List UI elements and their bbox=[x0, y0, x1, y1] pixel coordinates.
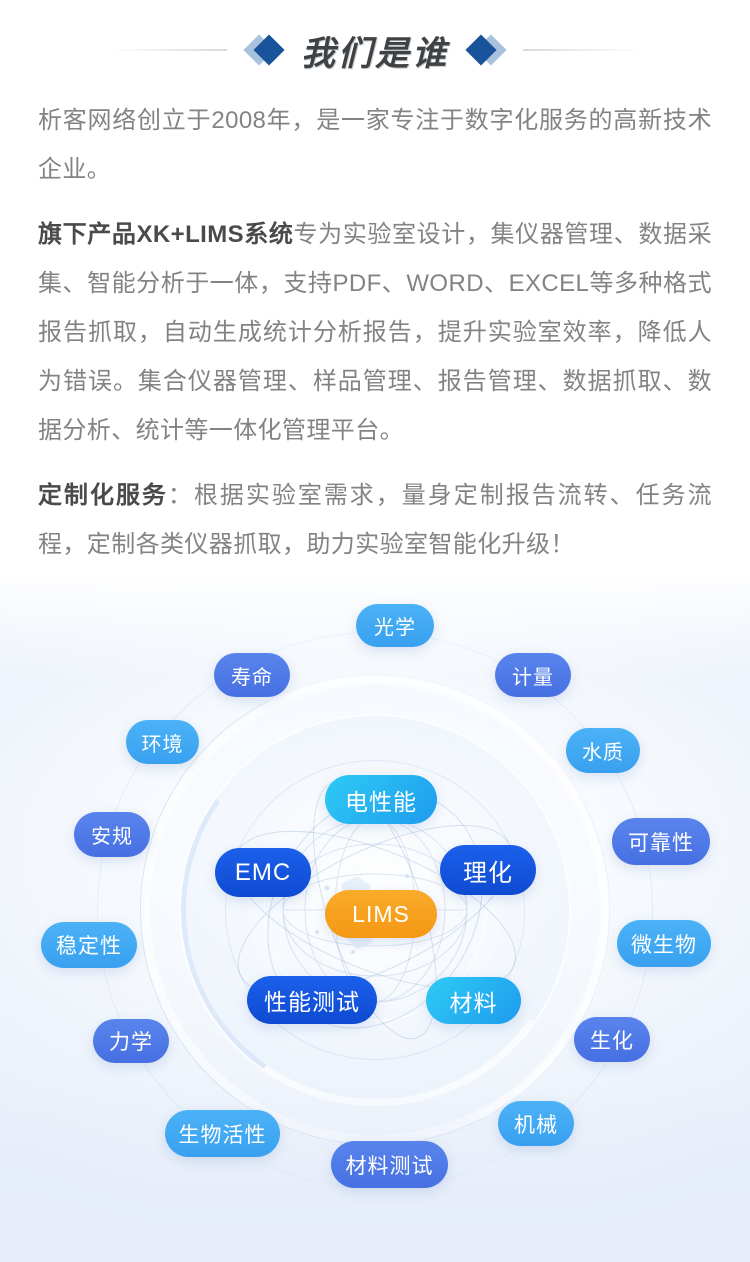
tag-pill[interactable]: 电性能 bbox=[325, 775, 437, 824]
paragraph-intro: 析客网络创立于2008年，是一家专注于数字化服务的高新技术企业。 bbox=[38, 96, 712, 194]
page-title: 我们是谁 bbox=[301, 26, 449, 75]
tag-cloud-section: 光学寿命计量环境水质电性能安规可靠性EMC理化LIMS稳定性微生物性能测试材料生… bbox=[0, 572, 750, 1262]
paragraph-product-lead: 旗下产品XK+LIMS系统 bbox=[38, 221, 294, 248]
tag-pill[interactable]: 机械 bbox=[498, 1101, 574, 1146]
section-header: 我们是谁 bbox=[0, 0, 750, 92]
tag-pill[interactable]: 微生物 bbox=[617, 920, 711, 967]
tag-pill[interactable]: 理化 bbox=[440, 845, 536, 895]
tag-pill[interactable]: 力学 bbox=[93, 1019, 169, 1063]
tag-pill[interactable]: 稳定性 bbox=[41, 922, 137, 968]
about-copy: 析客网络创立于2008年，是一家专注于数字化服务的高新技术企业。 旗下产品XK+… bbox=[0, 92, 750, 569]
tag-pill[interactable]: 可靠性 bbox=[612, 818, 710, 865]
tag-pill[interactable]: 材料测试 bbox=[331, 1141, 448, 1188]
tag-pill[interactable]: LIMS bbox=[325, 890, 437, 938]
tag-pill[interactable]: EMC bbox=[215, 848, 311, 897]
paragraph-custom: 定制化服务：根据实验室需求，量身定制报告流转、任务流程，定制各类仪器抓取，助力实… bbox=[38, 471, 712, 569]
tag-pill[interactable]: 生物活性 bbox=[165, 1110, 280, 1157]
tag-pill[interactable]: 生化 bbox=[574, 1017, 650, 1062]
tag-pill[interactable]: 性能测试 bbox=[247, 976, 377, 1024]
paragraph-intro-text: 析客网络创立于2008年，是一家专注于数字化服务的高新技术企业。 bbox=[38, 107, 712, 183]
header-rule-right bbox=[523, 49, 643, 51]
tag-pill[interactable]: 光学 bbox=[356, 604, 434, 647]
header-rule-left bbox=[107, 49, 227, 51]
paragraph-product-text: 专为实验室设计，集仪器管理、数据采集、智能分析于一体，支持PDF、WORD、EX… bbox=[38, 221, 712, 444]
tag-pill[interactable]: 环境 bbox=[126, 720, 199, 764]
paragraph-product: 旗下产品XK+LIMS系统专为实验室设计，集仪器管理、数据采集、智能分析于一体，… bbox=[38, 210, 712, 455]
tag-pill[interactable]: 水质 bbox=[566, 728, 640, 773]
tag-pill[interactable]: 安规 bbox=[74, 812, 150, 857]
diamond-icon-right bbox=[467, 35, 505, 65]
tag-pill[interactable]: 寿命 bbox=[214, 653, 290, 697]
paragraph-custom-lead: 定制化服务 bbox=[38, 482, 168, 509]
tag-pill[interactable]: 计量 bbox=[495, 653, 571, 697]
diamond-icon-left bbox=[245, 35, 283, 65]
tag-pill[interactable]: 材料 bbox=[426, 977, 521, 1024]
